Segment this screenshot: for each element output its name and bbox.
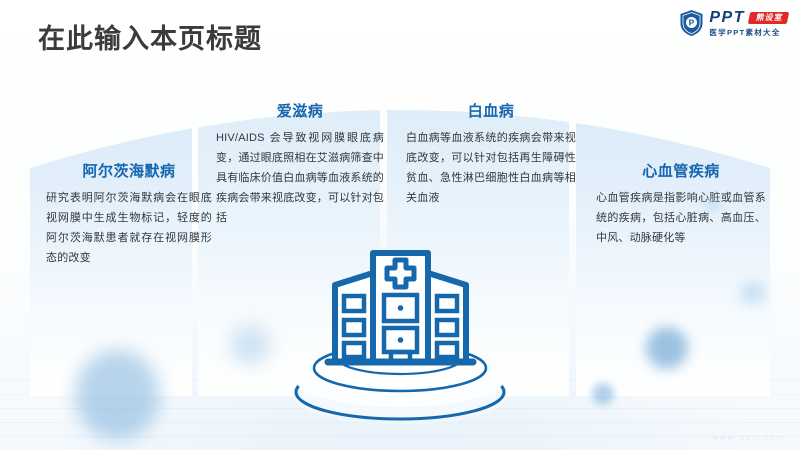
shield-icon: P <box>679 9 704 37</box>
content-column-1: 阿尔茨海默病 研究表明阿尔茨海默病会在眼底视网膜中生成生物标记，轻度的阿尔茨海默… <box>46 160 212 268</box>
decor-circle-right <box>646 327 688 369</box>
content-column-3: 白血病 白血病等血液系统的疾病会带来视底改变，可以针对包括再生障碍性贫血、急性淋… <box>406 100 576 208</box>
column-body-2: HIV/AIDS 会导致视网膜眼底病变，通过眼底照相在艾滋病筛查中具有临床价值白… <box>216 128 384 228</box>
column-body-1: 研究表明阿尔茨海默病会在眼底视网膜中生成生物标记，轻度的阿尔茨海默患者就存在视网… <box>46 188 212 268</box>
hospital-illustration <box>278 240 522 425</box>
logo-wordmark: PPT <box>709 10 745 26</box>
decor-circle-small-right <box>592 383 614 405</box>
logo-subtitle: 医学PPT素材大全 <box>709 29 788 37</box>
slide-canvas: 在此输入本页标题 P PPT 熊设室 医学PPT素材大全 阿尔茨海默病 研究表明… <box>0 0 800 450</box>
column-heading-1: 阿尔茨海默病 <box>46 160 212 181</box>
page-title: 在此输入本页标题 <box>38 22 262 56</box>
brand-logo[interactable]: P PPT 熊设室 医学PPT素材大全 <box>679 9 788 37</box>
column-body-3: 白血病等血液系统的疾病会带来视底改变，可以针对包括再生障碍性贫血、急性淋巴细胞性… <box>406 128 576 208</box>
decor-circle-large-left <box>75 350 160 440</box>
column-body-4: 心血管疾病是指影响心脏或血管系统的疾病，包括心脏病、高血压、中风、动脉硬化等 <box>596 188 766 248</box>
logo-badge: 熊设室 <box>748 12 790 24</box>
watermark: www.pptr.com <box>712 433 786 442</box>
content-column-4: 心血管疾病 心血管疾病是指影响心脏或血管系统的疾病，包括心脏病、高血压、中风、动… <box>596 160 766 248</box>
decor-circle-small-left <box>230 325 270 365</box>
column-heading-4: 心血管疾病 <box>596 160 766 181</box>
column-heading-2: 爱滋病 <box>216 100 384 121</box>
decor-circle-upper-right <box>705 196 721 212</box>
decor-circle-far-right <box>740 282 766 304</box>
content-column-2: 爱滋病 HIV/AIDS 会导致视网膜眼底病变，通过眼底照相在艾滋病筛查中具有临… <box>216 100 384 228</box>
column-heading-3: 白血病 <box>406 100 576 121</box>
svg-text:P: P <box>689 18 695 28</box>
